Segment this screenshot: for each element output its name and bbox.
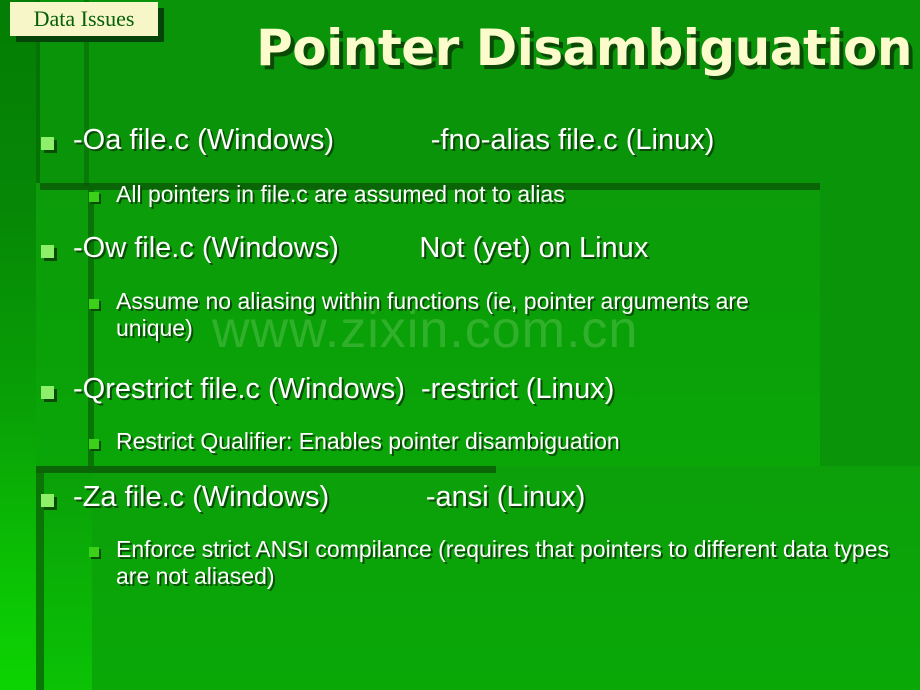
square-bullet-icon	[41, 386, 54, 399]
square-bullet-icon	[89, 547, 99, 557]
bullet-level2-3-1-text: Restrict Qualifier: Enables pointer disa…	[116, 428, 796, 455]
bullet-level1-3-text: -Qrestrict file.c (Windows) -restrict (L…	[73, 373, 614, 406]
square-bullet-icon	[41, 137, 54, 150]
bullet-level2-2-1: Assume no aliasing within functions (ie,…	[89, 288, 796, 341]
bullet-level2-1-1: All pointers in file.c are assumed not t…	[89, 181, 796, 208]
square-bullet-icon	[41, 494, 54, 507]
bullet-level2-2-1-text: Assume no aliasing within functions (ie,…	[116, 288, 796, 341]
bullet-level1-4-text: -Za file.c (Windows) -ansi (Linux)	[73, 481, 585, 514]
bullet-level1-2-text: -Ow file.c (Windows) Not (yet) on Linux	[73, 232, 648, 265]
bullet-level1-3: -Qrestrict file.c (Windows) -restrict (L…	[41, 373, 614, 406]
square-bullet-icon	[89, 192, 99, 202]
bullet-level2-4-1: Enforce strict ANSI compilance (requires…	[89, 536, 916, 589]
bullet-level1-1: -Oa file.c (Windows) -fno-alias file.c (…	[41, 124, 714, 157]
bullet-level1-2: -Ow file.c (Windows) Not (yet) on Linux	[41, 232, 648, 265]
bullet-level2-1-1-text: All pointers in file.c are assumed not t…	[116, 181, 796, 208]
bullet-level2-3-1: Restrict Qualifier: Enables pointer disa…	[89, 428, 796, 455]
square-bullet-icon	[89, 299, 99, 309]
square-bullet-icon	[41, 245, 54, 258]
slide-body: -Oa file.c (Windows) -fno-alias file.c (…	[0, 0, 920, 690]
bullet-level1-1-text: -Oa file.c (Windows) -fno-alias file.c (…	[73, 124, 714, 157]
bullet-level1-4: -Za file.c (Windows) -ansi (Linux)	[41, 481, 585, 514]
square-bullet-icon	[89, 439, 99, 449]
bullet-level2-4-1-text: Enforce strict ANSI compilance (requires…	[116, 536, 916, 589]
slide: www.zixin.com.cn Data Issues Pointer Dis…	[0, 0, 920, 690]
